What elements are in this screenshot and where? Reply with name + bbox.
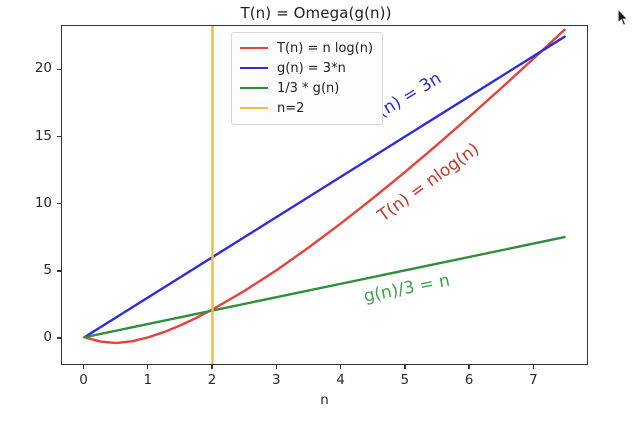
- legend-color-swatch: [240, 87, 268, 89]
- matplotlib-figure: T(n) = Omega(g(n)) 05101520 01234567 g(n…: [0, 0, 632, 426]
- y-tick-label: 20: [20, 60, 52, 76]
- legend-item-0: T(n) = n log(n): [240, 38, 373, 58]
- x-tick-label: 0: [68, 372, 98, 388]
- x-tick-label: 2: [197, 372, 227, 388]
- legend-item-1: g(n) = 3*n: [240, 58, 373, 78]
- legend-item-3: n=2: [240, 98, 373, 118]
- x-tick-label: 5: [390, 372, 420, 388]
- legend-color-swatch: [240, 67, 268, 69]
- x-tick-mark: [276, 365, 277, 369]
- page-title: T(n) = Omega(g(n)): [0, 4, 632, 22]
- x-tick-label: 4: [326, 372, 356, 388]
- x-tick-label: 1: [133, 372, 163, 388]
- x-tick-mark: [340, 365, 341, 369]
- x-axis-label: n: [61, 392, 588, 408]
- legend-label: n=2: [277, 102, 304, 115]
- legend-label: T(n) = n log(n): [277, 42, 373, 55]
- y-tick-label: 5: [20, 262, 52, 278]
- x-tick-label: 7: [518, 372, 548, 388]
- x-tick-mark: [83, 365, 84, 369]
- legend-item-2: 1/3 * g(n): [240, 78, 373, 98]
- x-tick-label: 6: [454, 372, 484, 388]
- x-tick-mark: [533, 365, 534, 369]
- x-tick-mark: [147, 365, 148, 369]
- legend-label: 1/3 * g(n): [277, 82, 339, 95]
- mouse-pointer-icon: [617, 8, 629, 27]
- legend-color-swatch: [240, 47, 268, 49]
- x-tick-mark: [404, 365, 405, 369]
- chart-legend: T(n) = n log(n)g(n) = 3*n1/3 * g(n)n=2: [231, 32, 383, 125]
- x-tick-label: 3: [261, 372, 291, 388]
- x-tick-mark: [211, 365, 212, 369]
- y-tick-label: 15: [20, 128, 52, 144]
- x-tick-mark: [468, 365, 469, 369]
- series-line-1/3 * g(n): [84, 237, 564, 337]
- y-tick-label: 10: [20, 195, 52, 211]
- legend-color-swatch: [240, 107, 268, 109]
- legend-label: g(n) = 3*n: [277, 62, 346, 75]
- y-tick-label: 0: [20, 329, 52, 345]
